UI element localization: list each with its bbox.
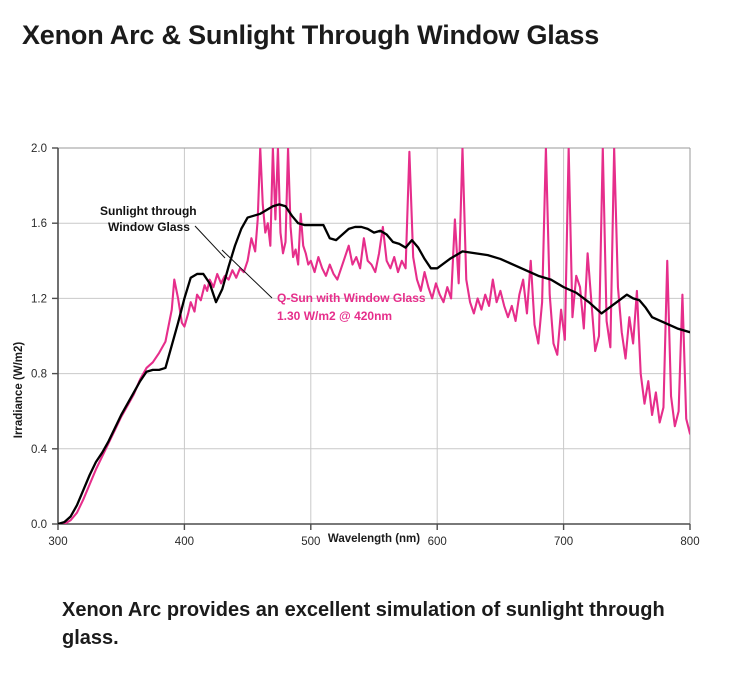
y-axis-title: Irradiance (W/m2) [13,342,25,439]
annotation-qsun-line2: 1.30 W/m2 @ 420nm [277,309,392,323]
y-tick-label: 2.0 [31,143,47,155]
y-tick-label: 0.8 [31,369,47,381]
x-tick-label: 700 [554,536,573,548]
y-tick-label: 0.4 [31,444,48,456]
chart-figure: 3004005006007008000.00.40.81.21.62.0 Wav… [0,130,731,570]
figure-caption: Xenon Arc provides an excellent simulati… [62,596,682,653]
y-tick-label: 0.0 [31,519,47,531]
x-tick-label: 600 [428,536,447,548]
irradiance-spectrum-chart: 3004005006007008000.00.40.81.21.62.0 Wav… [0,130,731,570]
annotation-qsun-leader [222,250,272,298]
x-tick-label: 500 [301,536,320,548]
annotation-sunlight: Sunlight through Window Glass [100,204,225,258]
x-tick-label: 800 [680,536,699,548]
annotation-sunlight-leader [195,226,225,258]
x-tick-label: 300 [48,536,67,548]
annotation-sunlight-line1: Sunlight through [100,204,197,218]
annotation-sunlight-line2: Window Glass [108,220,190,234]
annotation-qsun-line1: Q-Sun with Window Glass [277,291,426,305]
page-title: Xenon Arc & Sunlight Through Window Glas… [22,18,682,53]
y-tick-label: 1.2 [31,293,47,305]
series-line-sunlight [58,204,690,524]
x-axis-title: Wavelength (nm) [328,533,420,545]
y-tick-label: 1.6 [31,218,47,230]
x-tick-label: 400 [175,536,194,548]
